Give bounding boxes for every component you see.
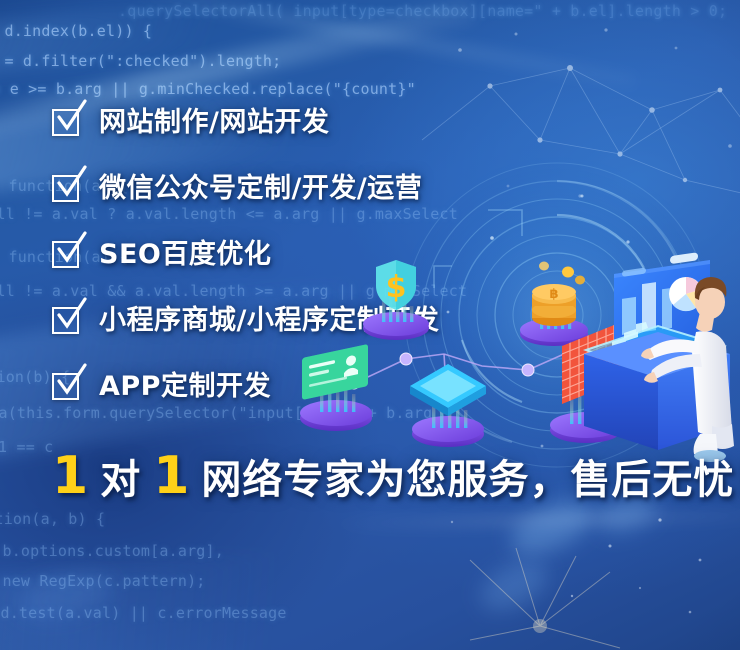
code-line: n d.test(a.val) || c.errorMessage (0, 604, 287, 622)
checkmark-glyph (55, 100, 88, 138)
checklist-item-miniapp[interactable]: 小程序商城/小程序定制开发 (52, 298, 712, 342)
checkbox-checked-icon[interactable] (52, 175, 79, 202)
checklist-item-app[interactable]: APP定制开发 (52, 364, 712, 408)
checklist-item-label: 微信公众号定制/开发/运营 (99, 175, 422, 202)
light-beam (123, 0, 637, 87)
bokeh-blob (15, 566, 117, 625)
service-checklist: 网站制作/网站开发 微信公众号定制/开发/运营 SEO百度优化 (52, 100, 712, 430)
checklist-item-label: 小程序商城/小程序定制开发 (99, 307, 439, 334)
code-line: = b.options.custom[a.arg], (0, 542, 224, 560)
checkmark-glyph (55, 166, 88, 204)
checklist-item-label: 网站制作/网站开发 (99, 109, 329, 136)
code-line: nction(a, b) { (0, 510, 105, 528)
headline-tail-text: 网络专家为您服务，售后无忧！ (201, 460, 740, 500)
light-beam (330, 511, 740, 528)
headline: 1 对 1 网络专家为您服务，售后无忧！ (50, 450, 740, 502)
promo-banner: .querySelectorAll( input[type=checkbox][… (0, 0, 740, 650)
code-line: .querySelectorAll( input[type=checkbox][… (118, 2, 727, 20)
background-slab (0, 540, 414, 650)
bokeh-blob (473, 551, 555, 620)
checklist-item-wechat[interactable]: 微信公众号定制/开发/运营 (52, 166, 712, 210)
code-line: = new RegExp(c.pattern); (0, 572, 206, 590)
checkbox-checked-icon[interactable] (52, 109, 79, 136)
code-line: e = d.filter(":checked").length; (0, 52, 281, 70)
checkbox-checked-icon[interactable] (52, 307, 79, 334)
checklist-item-seo[interactable]: SEO百度优化 (52, 232, 712, 276)
checkmark-glyph (55, 364, 88, 402)
checkmark-glyph (55, 232, 88, 270)
checklist-item-label: APP定制开发 (99, 373, 271, 400)
checklist-item-website[interactable]: 网站制作/网站开发 (52, 100, 712, 144)
headline-number-second: 1 (151, 450, 191, 502)
code-line: 1 == c (0, 438, 53, 456)
headline-mid-word: 对 (100, 460, 141, 500)
background-slab (0, 0, 362, 78)
checkbox-checked-icon[interactable] (52, 373, 79, 400)
code-line: = d.index(b.el)) { (0, 22, 152, 40)
headline-number-first: 1 (50, 450, 90, 502)
checkbox-checked-icon[interactable] (52, 241, 79, 268)
checkmark-glyph (55, 298, 88, 336)
checklist-item-label: SEO百度优化 (99, 241, 271, 268)
code-line: rn e >= b.arg || g.minChecked.replace("{… (0, 80, 416, 98)
